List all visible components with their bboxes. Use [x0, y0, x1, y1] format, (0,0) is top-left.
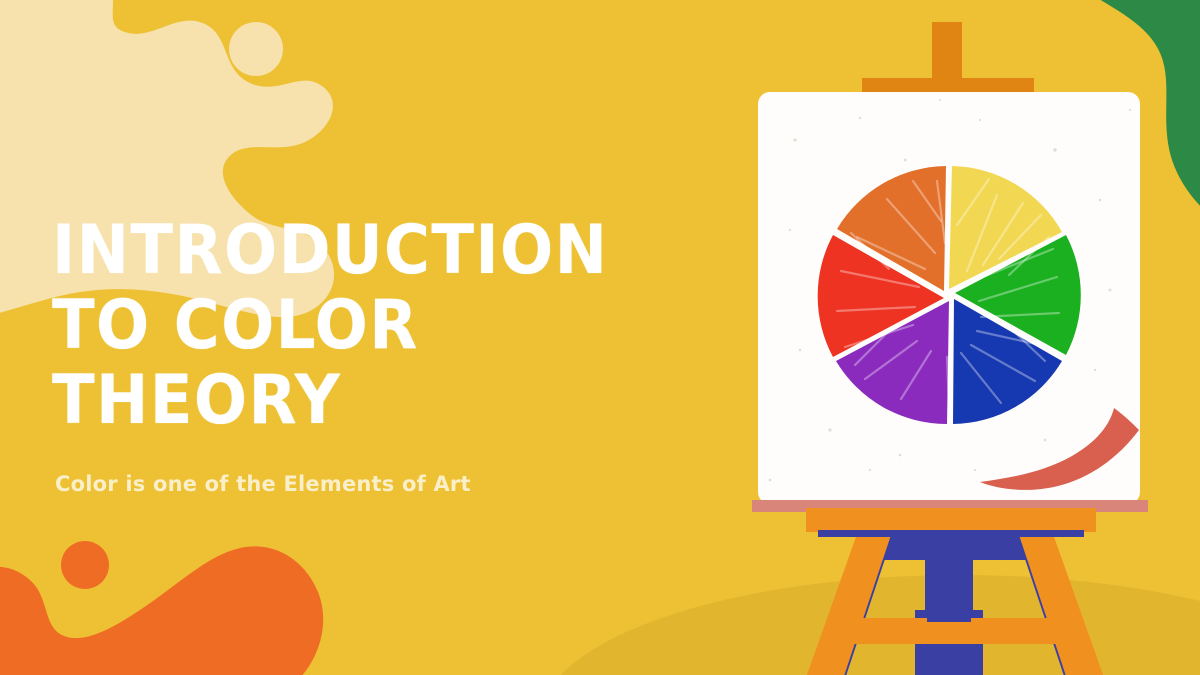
easel-right-leg [1014, 520, 1112, 675]
canvas-surface [758, 92, 1140, 504]
page-title: INTRODUCTION TO COLOR THEORY [52, 214, 687, 438]
easel-ledge-edge [818, 530, 1084, 537]
easel-ledge [752, 500, 1148, 537]
canvas-board [758, 92, 1140, 504]
easel-left-leg [798, 520, 896, 675]
easel-center-post-upper [927, 556, 971, 622]
easel-ledge-bar [806, 508, 1096, 532]
easel-center-post-lower [927, 644, 971, 675]
page-subtitle: Color is one of the Elements of Art [55, 472, 742, 496]
title-block: INTRODUCTION TO COLOR THEORY Color is on… [52, 214, 742, 496]
easel-top [862, 22, 1034, 104]
slide-canvas: INTRODUCTION TO COLOR THEORY Color is on… [0, 0, 1200, 675]
